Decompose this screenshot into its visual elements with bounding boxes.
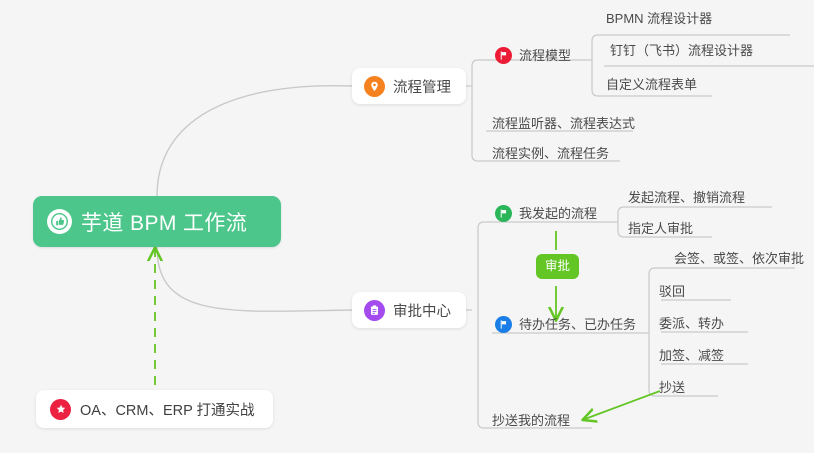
flag-icon [495, 316, 512, 333]
thumbs-up-icon [47, 209, 72, 234]
root-node-label: 芋道 BPM 工作流 [81, 207, 247, 237]
location-pin-icon [364, 76, 385, 97]
leaf-countersign[interactable]: 会签、或签、依次审批 [674, 252, 804, 265]
leaf-add-remove-sign[interactable]: 加签、减签 [659, 349, 724, 362]
leaf-dingtalk-designer[interactable]: 钉钉（飞书）流程设计器 [610, 44, 753, 57]
leaf-process-listener[interactable]: 流程监听器、流程表达式 [492, 117, 635, 130]
leaf-cc[interactable]: 抄送 [659, 381, 685, 394]
bracket-approval-children [478, 222, 492, 428]
bracket-process-children [472, 60, 486, 161]
leaf-process-instance[interactable]: 流程实例、流程任务 [492, 147, 609, 160]
leaf-label: 流程模型 [519, 49, 571, 62]
leaf-label: 我发起的流程 [519, 207, 597, 220]
bracket-model-children [592, 35, 604, 96]
branch-card-label: 流程管理 [393, 76, 451, 97]
leaf-launch-cancel-process[interactable]: 发起流程、撤销流程 [628, 191, 745, 204]
leaf-process-model[interactable]: 流程模型 [495, 47, 571, 64]
connector-root-to-approval [157, 247, 352, 311]
star-icon [50, 399, 71, 420]
arrow-cc-to-ccmine [585, 391, 660, 419]
leaf-custom-form[interactable]: 自定义流程表单 [606, 78, 697, 91]
leaf-reject[interactable]: 驳回 [659, 285, 685, 298]
leaf-my-initiated-process[interactable]: 我发起的流程 [495, 205, 597, 222]
leaf-delegate-transfer[interactable]: 委派、转办 [659, 317, 724, 330]
root-node[interactable]: 芋道 BPM 工作流 [33, 196, 281, 247]
annotation-pill-approval[interactable]: 审批 [536, 254, 579, 279]
branch-card-process-management[interactable]: 流程管理 [352, 68, 466, 104]
flag-icon [495, 205, 512, 222]
branch-card-approval-center[interactable]: 审批中心 [352, 292, 466, 328]
leaf-label: 待办任务、已办任务 [519, 318, 636, 331]
leaf-assigned-approver[interactable]: 指定人审批 [628, 222, 693, 235]
leaf-todo-done-tasks[interactable]: 待办任务、已办任务 [495, 316, 636, 333]
branch-card-label: 审批中心 [393, 300, 451, 321]
leaf-cc-my-process[interactable]: 抄送我的流程 [492, 414, 570, 427]
clipboard-icon [364, 300, 385, 321]
floating-node-label: OA、CRM、ERP 打通实战 [80, 399, 255, 420]
flag-icon [495, 47, 512, 64]
leaf-bpmn-designer[interactable]: BPMN 流程设计器 [606, 12, 712, 25]
connector-root-to-process [157, 86, 352, 196]
mindmap-canvas: 芋道 BPM 工作流 流程管理 审批中心 [0, 0, 814, 453]
floating-node-integration[interactable]: OA、CRM、ERP 打通实战 [36, 390, 273, 428]
